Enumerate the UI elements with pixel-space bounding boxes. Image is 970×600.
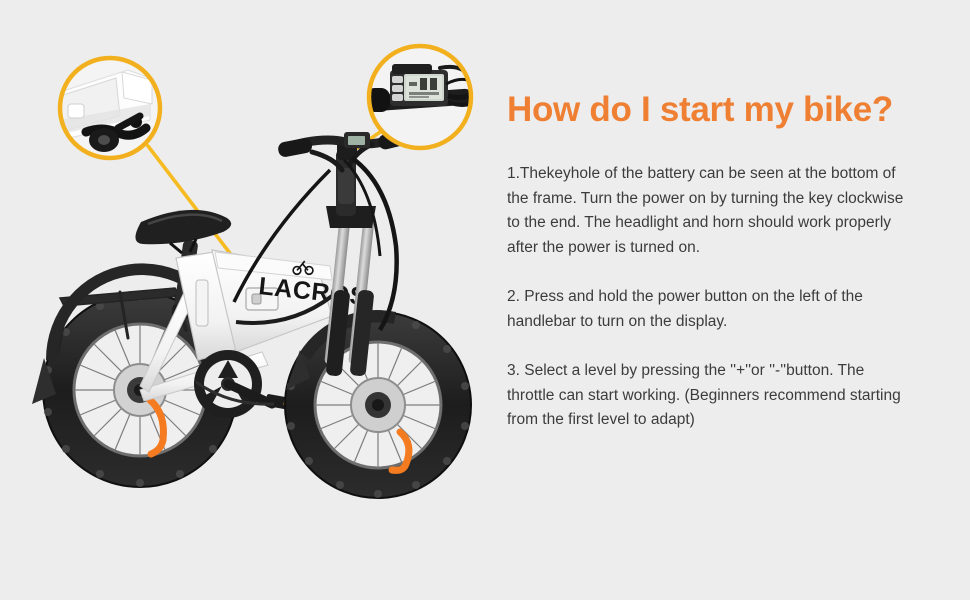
bike-graphic: LACROS <box>32 128 471 498</box>
instruction-step-3: 3. Select a level by pressing the ''+''o… <box>507 359 915 433</box>
bike-illustration: LACROS <box>0 0 510 600</box>
drivetrain <box>194 350 294 418</box>
callout-lcd-display <box>366 46 474 148</box>
page-title: How do I start my bike? <box>507 88 927 132</box>
instructions-column: How do I start my bike? 1.Thekeyhole of … <box>507 88 927 433</box>
instruction-step-1: 1.Thekeyhole of the battery can be seen … <box>507 162 915 260</box>
infographic-page: LACROS <box>0 0 970 600</box>
instruction-step-2: 2. Press and hold the power button on th… <box>507 285 915 334</box>
callout-battery-keyhole <box>60 58 160 158</box>
